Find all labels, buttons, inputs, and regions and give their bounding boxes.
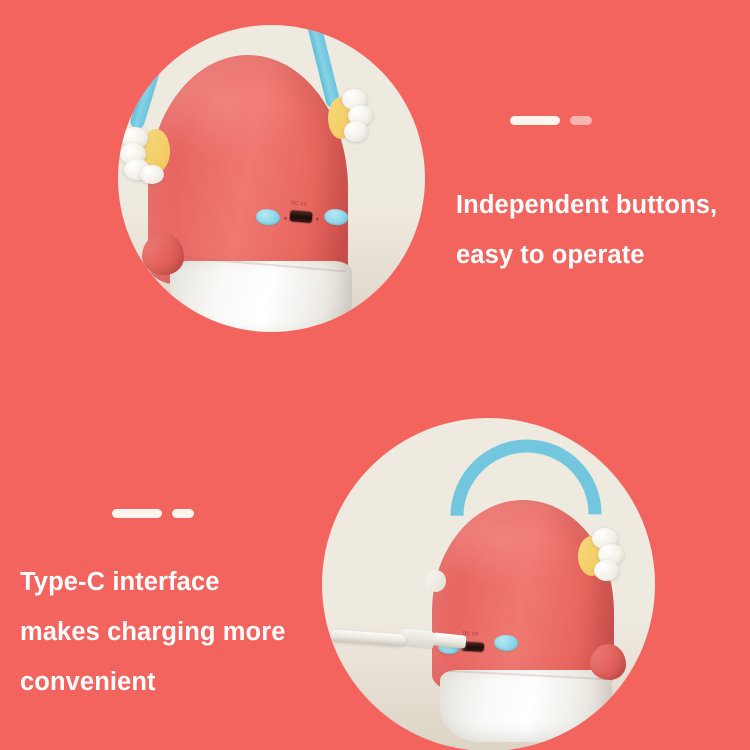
feature-photo-independent-buttons: DC 5V xyxy=(118,25,425,332)
power-button-right[interactable] xyxy=(324,208,349,226)
flower-ornament-left xyxy=(122,121,174,181)
photo-stage: DC 5V xyxy=(322,418,655,750)
port-indicator-dot xyxy=(284,217,287,220)
side-nub xyxy=(590,644,626,680)
lamp-base xyxy=(440,670,612,742)
caption-line: Independent buttons, xyxy=(456,180,717,230)
side-nub xyxy=(142,233,184,275)
divider-dashes-top xyxy=(510,116,592,125)
lamp-base xyxy=(170,261,352,332)
flower-ornament-right xyxy=(326,89,378,147)
divider-dash-short xyxy=(172,509,194,518)
ornament-petal xyxy=(344,121,368,142)
port-label: DC 5V xyxy=(291,200,308,207)
divider-dash-long xyxy=(510,116,560,125)
ornament-petal xyxy=(594,560,619,581)
side-nub-white xyxy=(426,570,446,592)
divider-dash-short xyxy=(570,116,592,125)
type-c-port xyxy=(290,210,313,223)
feature-photo-type-c-interface: DC 5V xyxy=(322,418,655,750)
caption-line: Type-C interface xyxy=(20,557,286,607)
power-button-right[interactable] xyxy=(494,634,519,651)
flower-ornament-right xyxy=(574,528,630,584)
feature-caption-independent-buttons: Independent buttons, easy to operate xyxy=(456,180,717,280)
power-button-left[interactable] xyxy=(255,208,280,226)
divider-dashes-bottom xyxy=(112,509,194,518)
product-feature-banner: DC 5V xyxy=(0,0,750,750)
caption-line: easy to operate xyxy=(456,230,717,280)
ornament-petal xyxy=(140,165,164,184)
feature-caption-type-c-interface: Type-C interface makes charging more con… xyxy=(20,557,286,707)
divider-dash-long xyxy=(112,509,162,518)
photo-stage: DC 5V xyxy=(118,25,425,332)
port-indicator-dot xyxy=(316,217,319,220)
caption-line: convenient xyxy=(20,657,286,707)
caption-line: makes charging more xyxy=(20,607,286,657)
